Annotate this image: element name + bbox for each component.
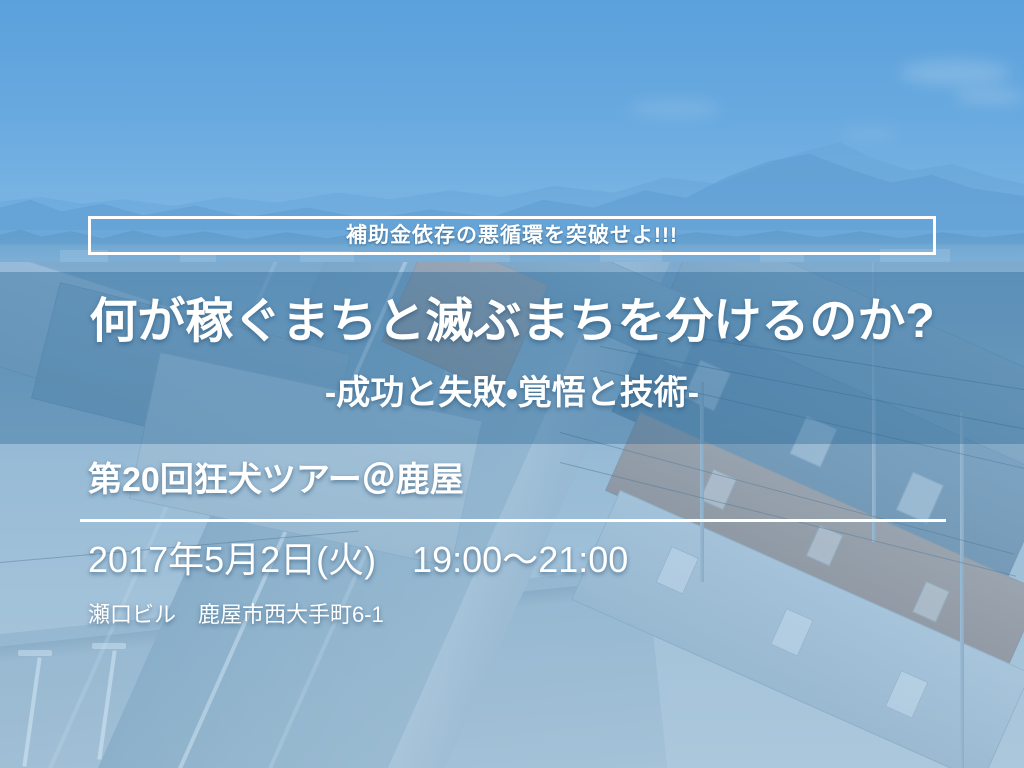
page-title: 何が稼ぐまちと滅ぶまちを分けるのか? bbox=[0, 296, 1024, 349]
banner-text: 補助金依存の悪循環を突破せよ!!! bbox=[346, 225, 678, 246]
event-venue: 瀬口ビル 鹿屋市西大手町6-1 bbox=[88, 603, 384, 627]
event-datetime: 2017年5月2日(火) 19:00〜21:00 bbox=[88, 540, 628, 580]
horizontal-divider bbox=[80, 519, 946, 522]
slide-canvas: 補助金依存の悪循環を突破せよ!!! 何が稼ぐまちと滅ぶまちを分けるのか? -成功… bbox=[0, 0, 1024, 768]
banner-box: 補助金依存の悪循環を突破せよ!!! bbox=[88, 216, 936, 255]
tour-name: 第20回狂犬ツアー＠鹿屋 bbox=[88, 462, 464, 499]
page-subtitle: -成功と失敗・覚悟と技術- bbox=[0, 375, 1024, 412]
